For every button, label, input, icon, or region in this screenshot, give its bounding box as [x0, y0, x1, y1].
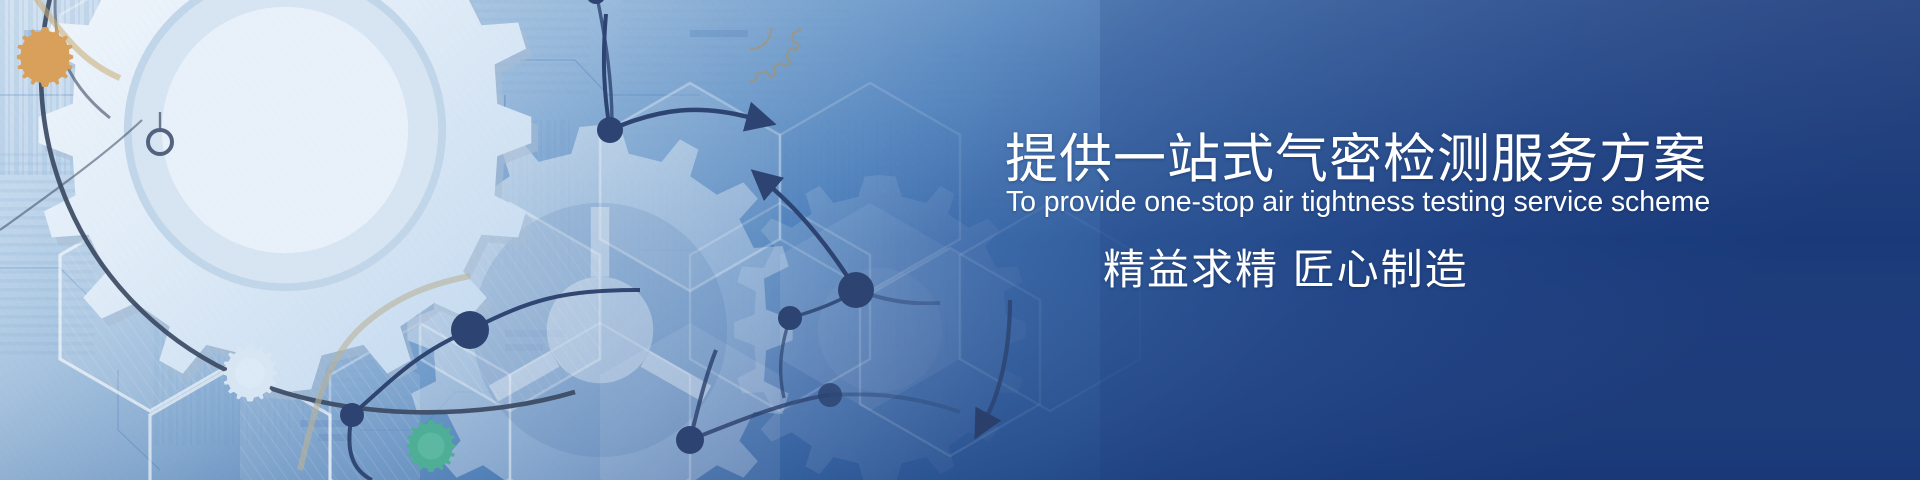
banner-artwork — [0, 0, 1920, 480]
hero-banner: 提供一站式气密检测服务方案 To provide one-stop air ti… — [0, 0, 1920, 480]
